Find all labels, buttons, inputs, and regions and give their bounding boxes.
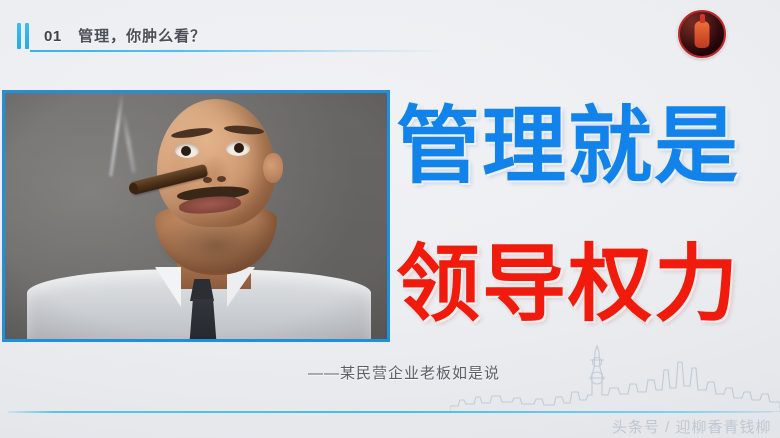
photo-vignette	[5, 93, 387, 339]
section-title: 管理，你肿么看？	[78, 28, 206, 45]
headline-line-2: 领导权力	[396, 242, 740, 326]
bracket-bar-left	[17, 23, 21, 49]
city-skyline-silhouette	[450, 340, 780, 412]
header-title-group: 01 管理，你肿么看？	[44, 25, 206, 46]
bracket-bar-right	[25, 23, 29, 49]
headline-line-1: 管理就是	[396, 104, 740, 188]
slide-header: 01 管理，你肿么看？	[0, 0, 780, 70]
header-divider-line	[30, 50, 450, 52]
double-bar-bracket-icon	[17, 23, 34, 49]
avatar-bottle-icon	[695, 21, 710, 48]
slide-root: 01 管理，你肿么看？	[0, 0, 780, 438]
footer-divider-line	[8, 411, 772, 413]
channel-avatar[interactable]	[678, 10, 726, 58]
section-number: 01	[44, 28, 62, 45]
footer-watermark: 头条号 / 迎柳香青钱柳	[612, 416, 772, 437]
slide-photo	[2, 90, 390, 342]
